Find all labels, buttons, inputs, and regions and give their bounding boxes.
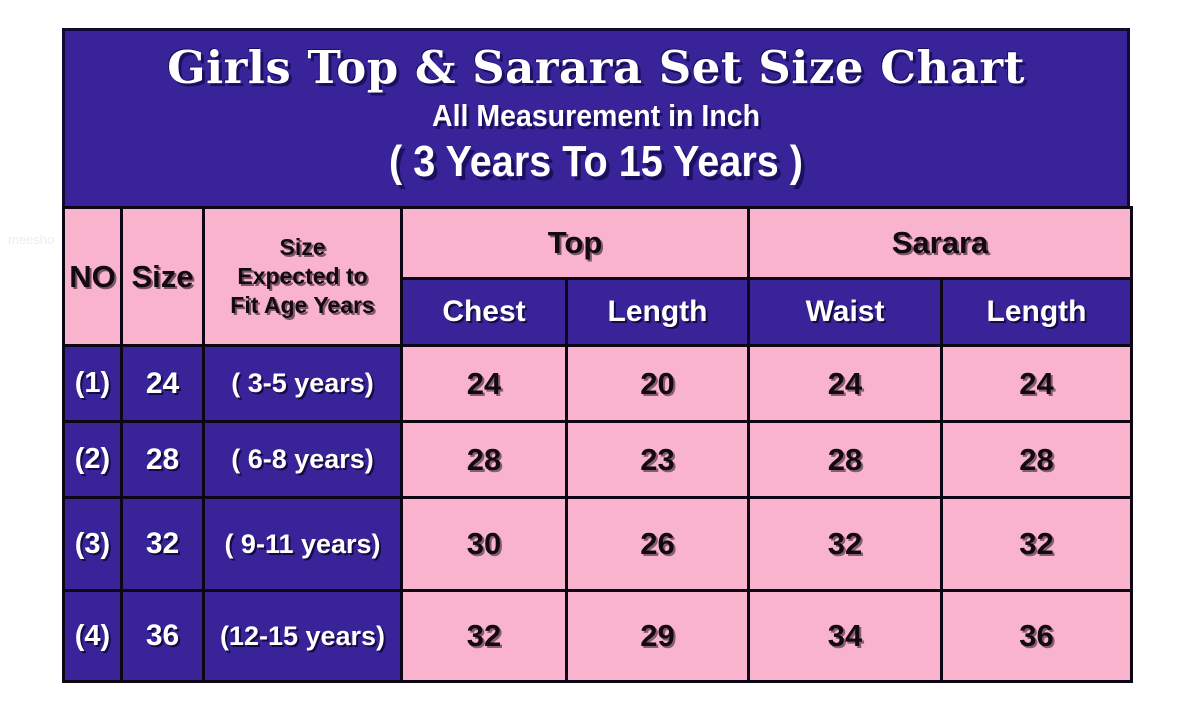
cell-top-length: 26 bbox=[567, 498, 749, 591]
cell-no: (1) bbox=[64, 346, 122, 422]
table-row: (4) 36 (12-15 years) 32 29 34 36 bbox=[64, 591, 1132, 682]
header-top-length: Length bbox=[567, 279, 749, 346]
cell-age: ( 6-8 years) bbox=[204, 422, 402, 498]
table-body: (1) 24 ( 3-5 years) 24 20 24 24 (2) 28 (… bbox=[64, 346, 1132, 682]
cell-sarara-waist: 32 bbox=[749, 498, 942, 591]
header-sarara-length: Length bbox=[942, 279, 1132, 346]
table-row: (3) 32 ( 9-11 years) 30 26 32 32 bbox=[64, 498, 1132, 591]
table-row: (2) 28 ( 6-8 years) 28 23 28 28 bbox=[64, 422, 1132, 498]
size-chart: Girls Top & Sarara Set Size Chart All Me… bbox=[62, 28, 1130, 672]
cell-top-chest: 30 bbox=[402, 498, 567, 591]
chart-title: Girls Top & Sarara Set Size Chart bbox=[65, 39, 1127, 97]
cell-size: 24 bbox=[122, 346, 204, 422]
cell-size: 28 bbox=[122, 422, 204, 498]
cell-age: ( 9-11 years) bbox=[204, 498, 402, 591]
chart-subtitle-age-range: ( 3 Years To 15 Years ) bbox=[118, 135, 1074, 189]
header-age-line-2: Expected to bbox=[205, 262, 400, 291]
header-age-line-3: Fit Age Years bbox=[205, 291, 400, 320]
cell-no: (3) bbox=[64, 498, 122, 591]
cell-size: 32 bbox=[122, 498, 204, 591]
chart-subtitle-measurement: All Measurement in Inch bbox=[107, 97, 1084, 135]
cell-no: (4) bbox=[64, 591, 122, 682]
table-row: (1) 24 ( 3-5 years) 24 20 24 24 bbox=[64, 346, 1132, 422]
cell-no: (2) bbox=[64, 422, 122, 498]
cell-sarara-waist: 24 bbox=[749, 346, 942, 422]
cell-sarara-length: 24 bbox=[942, 346, 1132, 422]
cell-age: (12-15 years) bbox=[204, 591, 402, 682]
cell-top-length: 29 bbox=[567, 591, 749, 682]
size-table: NO Size Size Expected to Fit Age Years T… bbox=[62, 206, 1133, 683]
cell-top-length: 20 bbox=[567, 346, 749, 422]
cell-sarara-waist: 34 bbox=[749, 591, 942, 682]
header-top-chest: Chest bbox=[402, 279, 567, 346]
cell-sarara-length: 32 bbox=[942, 498, 1132, 591]
cell-sarara-length: 28 bbox=[942, 422, 1132, 498]
header-no: NO bbox=[64, 208, 122, 346]
header-sarara-waist: Waist bbox=[749, 279, 942, 346]
title-banner: Girls Top & Sarara Set Size Chart All Me… bbox=[62, 28, 1130, 206]
header-row-group: NO Size Size Expected to Fit Age Years T… bbox=[64, 208, 1132, 279]
cell-sarara-waist: 28 bbox=[749, 422, 942, 498]
header-group-sarara: Sarara bbox=[749, 208, 1132, 279]
header-size: Size bbox=[122, 208, 204, 346]
header-age: Size Expected to Fit Age Years bbox=[204, 208, 402, 346]
cell-size: 36 bbox=[122, 591, 204, 682]
table-header: NO Size Size Expected to Fit Age Years T… bbox=[64, 208, 1132, 346]
cell-sarara-length: 36 bbox=[942, 591, 1132, 682]
watermark: meesho bbox=[8, 232, 54, 247]
header-age-line-1: Size bbox=[205, 233, 400, 262]
cell-top-chest: 32 bbox=[402, 591, 567, 682]
cell-age: ( 3-5 years) bbox=[204, 346, 402, 422]
cell-top-chest: 28 bbox=[402, 422, 567, 498]
cell-top-chest: 24 bbox=[402, 346, 567, 422]
header-group-top: Top bbox=[402, 208, 749, 279]
cell-top-length: 23 bbox=[567, 422, 749, 498]
